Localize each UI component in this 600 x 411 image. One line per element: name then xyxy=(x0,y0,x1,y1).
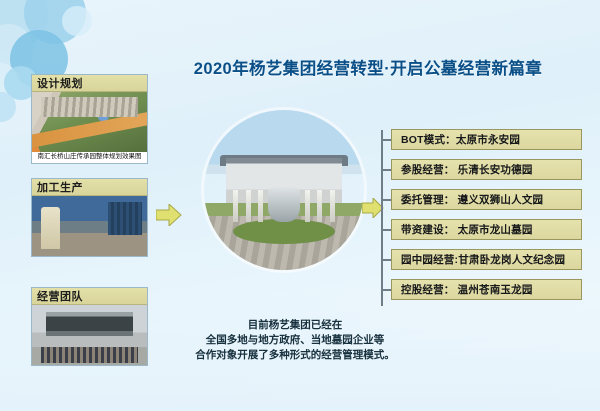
column xyxy=(305,190,310,222)
cemetery-plaza-fountain-photo xyxy=(204,110,364,270)
staff-group-photo xyxy=(32,305,147,365)
business-mode-text: 委托管理： 遵义双狮山人文园 xyxy=(401,192,543,207)
poster-title-text: 2020年杨艺集团经营转型·开启公墓经营新篇章 xyxy=(194,55,542,79)
business-mode-text: 参股经营： 乐清长安功德园 xyxy=(401,162,533,177)
card-processing-production-label: 加工生产 xyxy=(37,179,83,195)
card-design-planning: 设计规划 南汇长桥山庄传承园整体规划效果图 xyxy=(31,74,148,164)
poster-title: 2020年杨艺集团经营转型·开启公墓经营新篇章 xyxy=(162,52,574,82)
card-design-planning-caption: 南汇长桥山庄传承园整体规划效果图 xyxy=(32,152,147,163)
bracket-connector xyxy=(381,130,391,306)
bracket-tick xyxy=(381,199,391,201)
business-mode-row[interactable]: 园中园经营:甘肃卧龙岗人文纪念园 xyxy=(391,249,582,270)
card-processing-production: 加工生产 xyxy=(31,178,148,257)
bracket-tick xyxy=(381,139,391,141)
decorative-circle xyxy=(0,62,20,108)
decorative-circle xyxy=(0,24,34,76)
summary-paragraph: 目前杨艺集团已经在 全国多地与地方政府、当地墓园企业等 合作对象开展了多种形式的… xyxy=(150,318,440,363)
card-management-team-label: 经营团队 xyxy=(37,288,83,304)
summary-line-3: 合作对象开展了多种形式的经营管理模式。 xyxy=(150,348,440,363)
card-design-planning-header: 设计规划 xyxy=(32,75,147,92)
bracket-tick xyxy=(381,229,391,231)
column xyxy=(233,190,238,222)
business-mode-row[interactable]: 委托管理： 遵义双狮山人文园 xyxy=(391,189,582,210)
bracket-tick xyxy=(381,169,391,171)
card-management-team: 经营团队 xyxy=(31,287,148,366)
bracket-tick xyxy=(381,259,391,261)
bracket-tick xyxy=(381,289,391,291)
decorative-circle xyxy=(0,0,48,52)
decorative-circle xyxy=(24,0,86,44)
business-mode-text: 园中园经营:甘肃卧龙岗人文纪念园 xyxy=(401,252,565,267)
card-design-planning-label: 设计规划 xyxy=(37,75,83,91)
card-processing-production-header: 加工生产 xyxy=(32,179,147,196)
business-mode-row[interactable]: BOT模式：太原市永安园 xyxy=(391,129,582,150)
business-mode-row[interactable]: 参股经营： 乐清长安功德园 xyxy=(391,159,582,180)
decorative-circle xyxy=(0,92,16,122)
fountain-sculpture xyxy=(268,187,300,222)
poster-canvas: 2020年杨艺集团经营转型·开启公墓经营新篇章 设计规划 南汇长桥山庄传承园整体… xyxy=(0,0,600,411)
bracket-spine xyxy=(381,130,383,306)
column xyxy=(330,190,335,222)
decorative-circle xyxy=(62,6,92,36)
summary-line-2: 全国多地与地方政府、当地墓园企业等 xyxy=(150,333,440,348)
card-management-team-header: 经营团队 xyxy=(32,288,147,305)
column xyxy=(317,190,322,222)
business-mode-text: 带资建设： 太原市龙山墓园 xyxy=(401,222,533,237)
stone-processing-factory-photo xyxy=(32,196,147,256)
column xyxy=(258,190,263,222)
business-mode-text: BOT模式：太原市永安园 xyxy=(401,132,520,147)
summary-line-1: 目前杨艺集团已经在 xyxy=(150,318,440,333)
business-mode-text: 控股经营： 温州苍南玉龙园 xyxy=(401,282,533,297)
business-mode-row[interactable]: 控股经营： 温州苍南玉龙园 xyxy=(391,279,582,300)
business-mode-row[interactable]: 带资建设： 太原市龙山墓园 xyxy=(391,219,582,240)
aerial-masterplan-photo xyxy=(32,92,147,152)
column xyxy=(246,190,251,222)
